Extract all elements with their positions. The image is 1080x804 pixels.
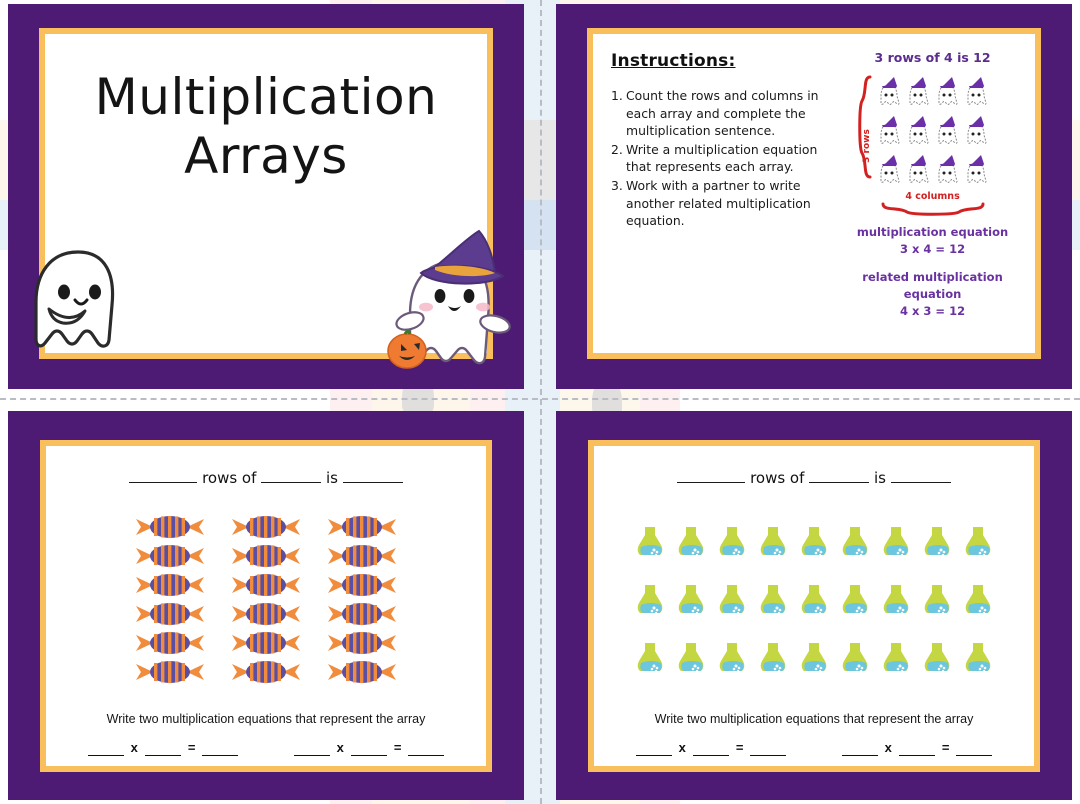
equals-operator: = bbox=[942, 740, 950, 756]
potion-bottle-icon bbox=[835, 524, 875, 560]
total-blank-input[interactable] bbox=[343, 466, 403, 483]
instruction-step-number: 3. bbox=[611, 177, 626, 230]
potion-bottle-icon bbox=[671, 582, 711, 618]
equation-slot: x = bbox=[88, 740, 239, 756]
columns-label: 4 columns bbox=[876, 191, 989, 202]
cut-line-vertical bbox=[540, 0, 542, 804]
worksheet-candy-card: rows of is bbox=[40, 440, 492, 772]
potion-bottle-icon bbox=[917, 582, 957, 618]
multiply-operator: x bbox=[131, 740, 138, 756]
ghost-witch-small-icon bbox=[876, 75, 902, 112]
instruction-step-text: Count the rows and columns in each array… bbox=[626, 87, 830, 140]
candy-icon bbox=[323, 513, 401, 541]
ghost-witch-small-icon bbox=[876, 114, 902, 151]
potion-bottle-icon bbox=[876, 640, 916, 676]
worksheet-potion-card: rows of is bbox=[588, 440, 1040, 772]
multiply-operator: x bbox=[679, 740, 686, 756]
potion-bottle-icon bbox=[630, 640, 670, 676]
potion-bottle-icon bbox=[753, 524, 793, 560]
potion-bottle-icon bbox=[671, 640, 711, 676]
ghost-witch-icon bbox=[383, 226, 524, 389]
factor-a-blank[interactable] bbox=[636, 741, 672, 756]
candy-icon bbox=[131, 629, 209, 657]
instruction-step: 2. Write a multiplication equation that … bbox=[611, 141, 830, 176]
candy-icon bbox=[131, 513, 209, 541]
ghost-witch-small-icon bbox=[905, 75, 931, 112]
worksheet-prompt: Write two multiplication equations that … bbox=[46, 712, 486, 726]
potion-bottle-icon bbox=[712, 582, 752, 618]
title-slide: Multiplication Arrays bbox=[8, 4, 524, 389]
ghost-witch-small-icon bbox=[905, 153, 931, 190]
product-blank[interactable] bbox=[408, 741, 444, 756]
page-title-line-1: Multiplication bbox=[45, 68, 487, 127]
potion-bottle-icon bbox=[917, 524, 957, 560]
factor-b-blank[interactable] bbox=[899, 741, 935, 756]
potion-array-area bbox=[594, 487, 1034, 712]
product-blank[interactable] bbox=[750, 741, 786, 756]
example-array: 3 rows bbox=[876, 75, 989, 216]
instruction-step: 1. Count the rows and columns in each ar… bbox=[611, 87, 830, 140]
equation-row: x = x = bbox=[46, 740, 486, 756]
ghost-witch-small-icon bbox=[905, 114, 931, 151]
potion-bottle-icon bbox=[630, 524, 670, 560]
worksheet-candy-slide: rows of is bbox=[8, 411, 524, 800]
candy-icon bbox=[131, 542, 209, 570]
equals-operator: = bbox=[188, 740, 196, 756]
related-equation-label: related multiplication equation bbox=[836, 269, 1029, 302]
candy-icon bbox=[227, 542, 305, 570]
instruction-step-number: 1. bbox=[611, 87, 626, 140]
potion-bottle-icon bbox=[835, 582, 875, 618]
candy-icon bbox=[131, 571, 209, 599]
rows-blank-input[interactable] bbox=[677, 466, 745, 483]
potion-bottle-icon bbox=[794, 524, 834, 560]
potion-bottle-icon bbox=[958, 640, 998, 676]
instructions-text-column: Instructions: 1. Count the rows and colu… bbox=[593, 34, 836, 353]
potion-bottle-icon bbox=[876, 524, 916, 560]
potion-bottle-icon bbox=[794, 582, 834, 618]
rows-of-sentence: rows of is bbox=[46, 446, 486, 487]
worksheet-prompt: Write two multiplication equations that … bbox=[594, 712, 1034, 726]
worksheet-footer: Write two multiplication equations that … bbox=[46, 712, 486, 766]
rows-of-sentence: rows of is bbox=[594, 446, 1034, 487]
factor-a-blank[interactable] bbox=[88, 741, 124, 756]
potion-bottle-icon bbox=[671, 524, 711, 560]
ghost-witch-small-icon bbox=[934, 153, 960, 190]
equation-slot: x = bbox=[842, 740, 993, 756]
cut-line-horizontal bbox=[0, 398, 1080, 400]
multiply-operator: x bbox=[337, 740, 344, 756]
candy-icon bbox=[131, 600, 209, 628]
equation-slot: x = bbox=[636, 740, 787, 756]
instructions-list: 1. Count the rows and columns in each ar… bbox=[611, 87, 830, 230]
worksheet-footer: Write two multiplication equations that … bbox=[594, 712, 1034, 766]
candy-icon bbox=[131, 658, 209, 686]
candy-icon bbox=[227, 629, 305, 657]
columns-blank-input[interactable] bbox=[809, 466, 869, 483]
candy-icon bbox=[323, 600, 401, 628]
candy-icon bbox=[227, 600, 305, 628]
total-blank-input[interactable] bbox=[891, 466, 951, 483]
potion-bottle-icon bbox=[958, 582, 998, 618]
equation-row: x = x = bbox=[594, 740, 1034, 756]
columns-blank-input[interactable] bbox=[261, 466, 321, 483]
factor-b-blank[interactable] bbox=[351, 741, 387, 756]
potion-array-grid bbox=[630, 524, 998, 676]
factor-a-blank[interactable] bbox=[842, 741, 878, 756]
ghost-witch-small-icon bbox=[934, 75, 960, 112]
candy-icon bbox=[227, 513, 305, 541]
candy-array-grid bbox=[131, 513, 401, 686]
ghost-icon bbox=[22, 247, 134, 367]
equation-label: multiplication equation bbox=[836, 224, 1029, 241]
candy-array-area bbox=[46, 487, 486, 712]
candy-icon bbox=[227, 658, 305, 686]
potion-bottle-icon bbox=[753, 640, 793, 676]
potion-bottle-icon bbox=[876, 582, 916, 618]
ghost-witch-small-icon bbox=[934, 114, 960, 151]
page-title: Multiplication Arrays bbox=[45, 34, 487, 186]
equation-value: 3 x 4 = 12 bbox=[836, 241, 1029, 258]
multiply-operator: x bbox=[885, 740, 892, 756]
potion-bottle-icon bbox=[712, 640, 752, 676]
example-column: 3 rows of 4 is 12 3 rows bbox=[836, 34, 1035, 353]
instruction-step-number: 2. bbox=[611, 141, 626, 176]
potion-bottle-icon bbox=[630, 582, 670, 618]
example-ghost-grid bbox=[876, 75, 989, 190]
potion-bottle-icon bbox=[835, 640, 875, 676]
potion-bottle-icon bbox=[958, 524, 998, 560]
columns-brace-icon bbox=[881, 202, 985, 216]
factor-b-blank[interactable] bbox=[145, 741, 181, 756]
factor-a-blank[interactable] bbox=[294, 741, 330, 756]
rows-brace-icon bbox=[858, 75, 872, 179]
potion-bottle-icon bbox=[794, 640, 834, 676]
instructions-slide: Instructions: 1. Count the rows and colu… bbox=[556, 4, 1072, 389]
equals-operator: = bbox=[736, 740, 744, 756]
is-label: is bbox=[874, 469, 886, 487]
ghost-witch-small-icon bbox=[963, 114, 989, 151]
instructions-card: Instructions: 1. Count the rows and colu… bbox=[587, 28, 1041, 359]
rows-blank-input[interactable] bbox=[129, 466, 197, 483]
ghost-witch-small-icon bbox=[876, 153, 902, 190]
candy-icon bbox=[323, 658, 401, 686]
instruction-step-text: Work with a partner to write another rel… bbox=[626, 177, 830, 230]
instructions-heading: Instructions: bbox=[611, 51, 830, 71]
product-blank[interactable] bbox=[956, 741, 992, 756]
candy-icon bbox=[323, 629, 401, 657]
candy-icon bbox=[323, 542, 401, 570]
instruction-step: 3. Work with a partner to write another … bbox=[611, 177, 830, 230]
equation-slot: x = bbox=[294, 740, 445, 756]
ghost-witch-small-icon bbox=[963, 75, 989, 112]
factor-b-blank[interactable] bbox=[693, 741, 729, 756]
potion-bottle-icon bbox=[917, 640, 957, 676]
candy-icon bbox=[227, 571, 305, 599]
worksheet-potion-slide: rows of is bbox=[556, 411, 1072, 800]
ghost-witch-small-icon bbox=[963, 153, 989, 190]
related-equation-value: 4 x 3 = 12 bbox=[836, 303, 1029, 320]
example-caption: 3 rows of 4 is 12 bbox=[836, 50, 1029, 65]
potion-bottle-icon bbox=[712, 524, 752, 560]
product-blank[interactable] bbox=[202, 741, 238, 756]
page-title-line-2: Arrays bbox=[45, 127, 487, 186]
rows-of-label: rows of bbox=[750, 469, 804, 487]
is-label: is bbox=[326, 469, 338, 487]
potion-bottle-icon bbox=[753, 582, 793, 618]
rows-of-label: rows of bbox=[202, 469, 256, 487]
equals-operator: = bbox=[394, 740, 402, 756]
instruction-step-text: Write a multiplication equation that rep… bbox=[626, 141, 830, 176]
candy-icon bbox=[323, 571, 401, 599]
